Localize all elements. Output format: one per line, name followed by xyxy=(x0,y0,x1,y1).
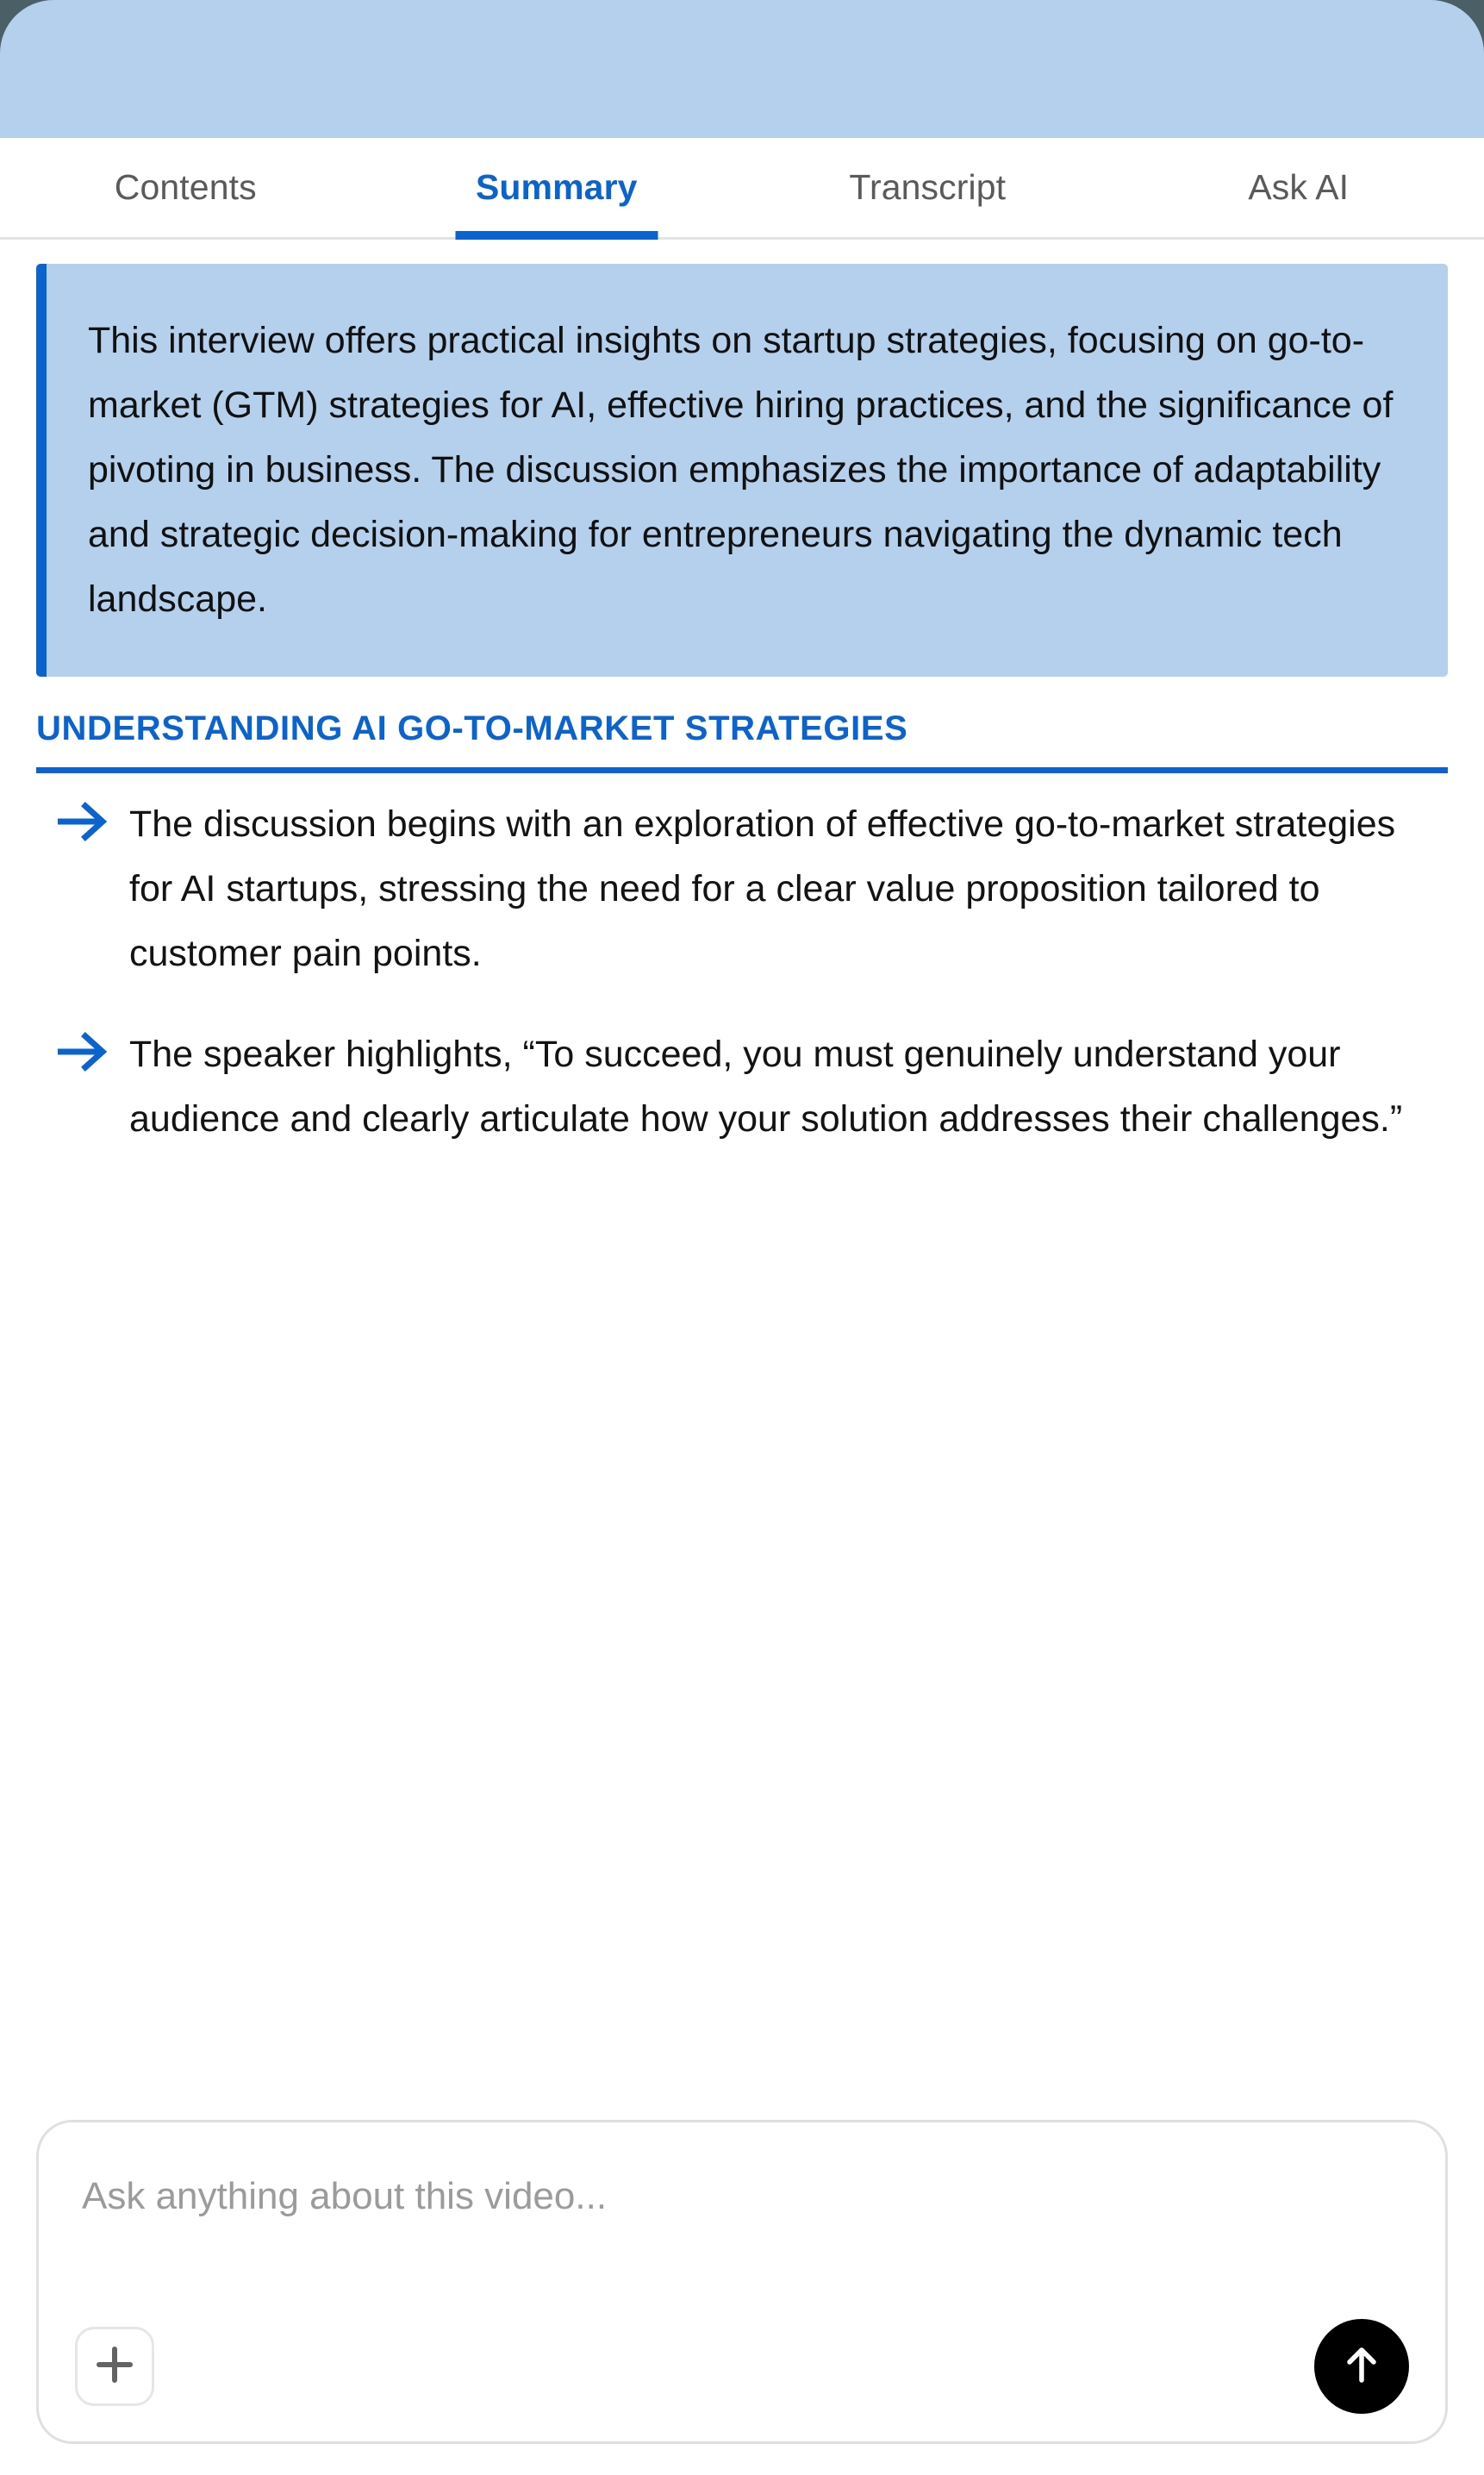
video-player-surface[interactable] xyxy=(0,0,1484,138)
arrow-right-icon xyxy=(36,1022,129,1072)
composer-container: Ask anything about this video... xyxy=(0,2120,1484,2475)
list-item: The discussion begins with an exploratio… xyxy=(36,792,1448,986)
arrow-right-icon xyxy=(36,792,129,842)
ask-input[interactable]: Ask anything about this video... xyxy=(75,2157,1409,2221)
app-frame: Contents Summary Transcript Ask AI This … xyxy=(0,0,1484,2475)
summary-text: This interview offers practical insights… xyxy=(88,309,1400,632)
summary-section: UNDERSTANDING AI GO-TO-MARKET STRATEGIES… xyxy=(36,709,1448,1152)
summary-panel: This interview offers practical insights… xyxy=(0,240,1484,2120)
composer-actions xyxy=(75,2319,1409,2414)
video-player-area[interactable] xyxy=(0,0,1484,138)
tab-contents-label: Contents xyxy=(115,167,257,208)
tab-summary[interactable]: Summary xyxy=(371,138,743,237)
plus-icon xyxy=(94,2344,135,2390)
section-heading: UNDERSTANDING AI GO-TO-MARKET STRATEGIES xyxy=(36,709,1448,773)
bullet-list: The discussion begins with an exploratio… xyxy=(36,792,1448,1152)
tab-transcript-label: Transcript xyxy=(849,167,1006,208)
tab-active-underline xyxy=(455,231,658,240)
tab-bar: Contents Summary Transcript Ask AI xyxy=(0,138,1484,240)
send-button[interactable] xyxy=(1314,2319,1409,2414)
list-item: The speaker highlights, “To succeed, you… xyxy=(36,1022,1448,1152)
composer[interactable]: Ask anything about this video... xyxy=(36,2120,1448,2444)
tab-ask-ai[interactable]: Ask AI xyxy=(1113,138,1484,237)
list-item-text: The discussion begins with an exploratio… xyxy=(129,792,1448,986)
arrow-up-icon xyxy=(1338,2341,1385,2392)
list-item-text: The speaker highlights, “To succeed, you… xyxy=(129,1022,1448,1152)
tab-summary-label: Summary xyxy=(476,167,638,208)
tab-ask-ai-label: Ask AI xyxy=(1248,167,1349,208)
tab-transcript[interactable]: Transcript xyxy=(742,138,1113,237)
tab-contents[interactable]: Contents xyxy=(0,138,371,237)
summary-callout: This interview offers practical insights… xyxy=(36,264,1448,677)
attach-button[interactable] xyxy=(75,2327,154,2406)
